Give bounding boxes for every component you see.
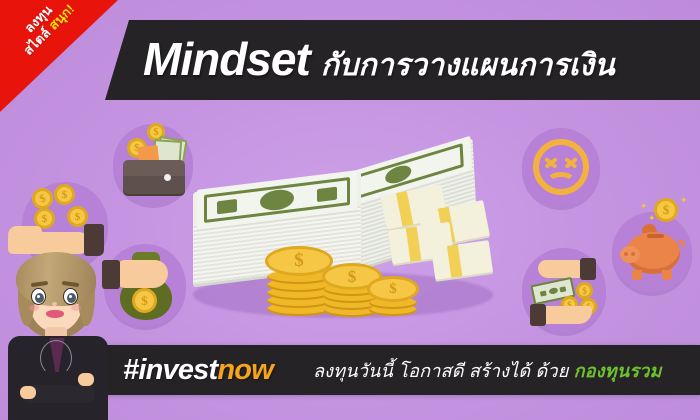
money-bundle — [431, 240, 493, 280]
blush-left — [29, 305, 39, 311]
wallet-flap — [123, 160, 185, 176]
grabbing-fist — [116, 260, 168, 288]
eye-left — [31, 288, 46, 305]
title-row: Mindset กับการวางแผนการเงิน — [143, 32, 615, 89]
pig-snout — [620, 246, 640, 263]
exchange-coin: $ — [576, 282, 593, 299]
hashtag-investnow: #investnow — [123, 354, 273, 387]
pig-tail — [676, 240, 685, 249]
corner-promo-ribbon: ลงทุน สไตล์ สนุก! — [0, 0, 118, 112]
blush-right — [71, 305, 81, 311]
bill-square-left — [540, 290, 547, 296]
pig-leg — [632, 270, 642, 280]
eye-right-x — [564, 155, 578, 169]
frown-mouth — [546, 172, 576, 192]
footer-tagline-highlight: กองทุนรวม — [574, 361, 662, 381]
bill-square-left — [217, 199, 237, 214]
eye-left-x — [544, 155, 558, 169]
investment-promo-banner: $ $ $ $ $ $ $ $ $ — [0, 0, 700, 420]
sleeve-cuff — [580, 258, 596, 280]
pupil-right — [67, 293, 76, 303]
hashtag-accent: now — [217, 354, 273, 386]
bill-oval — [548, 287, 558, 295]
necklace — [40, 340, 72, 376]
footer-tagline: ลงทุนวันนี้ โอกาสดี สร้างได้ ด้วย กองทุน… — [313, 356, 662, 385]
pupil-left — [35, 293, 44, 303]
falling-coin: $ — [54, 184, 75, 205]
bundle-band — [406, 226, 422, 261]
page-title-en: Mindset — [143, 32, 310, 86]
header-title-bar: Mindset กับการวางแผนการเงิน — [105, 20, 700, 100]
hair-front — [16, 252, 96, 306]
hand-left — [20, 386, 36, 399]
pig-nostril — [631, 252, 635, 256]
bill-square-right — [317, 187, 337, 202]
sparkle-icon: ✦ — [680, 196, 688, 205]
pig-coin-slot — [647, 234, 664, 238]
pig-leg — [662, 270, 672, 280]
eye-right — [63, 288, 78, 305]
bill-square-right — [559, 286, 566, 292]
page-title-th: กับการวางแผนการเงิน — [321, 42, 615, 89]
bundle-band — [447, 244, 462, 277]
footer-cta-bar: #investnow ลงทุนวันนี้ โอกาสดี สร้างได้ … — [95, 345, 700, 395]
hand-right — [78, 373, 94, 386]
hand-money-bag-icon: $ — [104, 244, 186, 326]
businesswoman-avatar — [0, 252, 116, 420]
hashtag-main: invest — [138, 354, 217, 386]
lips — [46, 310, 64, 318]
wallet-clasp — [164, 174, 171, 181]
sad-face-icon — [522, 128, 600, 206]
piggy-bank-icon: $ ✦ ✦ ✦ — [612, 212, 692, 292]
sleeve-cuff — [530, 304, 546, 326]
pig-nostril — [624, 252, 628, 256]
money-exchange-icon: $ $ $ — [522, 248, 606, 332]
footer-tagline-prefix: ลงทุนวันนี้ โอกาสดี สร้างได้ ด้วย — [313, 361, 574, 381]
bag-coin: $ — [132, 288, 157, 313]
nose — [52, 302, 57, 306]
piggy-coin: $ — [654, 198, 678, 222]
money-illustration: $ $ $ — [185, 160, 495, 335]
bundle-band — [396, 191, 413, 226]
coin-face: $ — [367, 276, 419, 302]
palm-fingers — [8, 226, 42, 244]
wallet-with-money-icon: $ $ — [113, 124, 193, 204]
sparkle-icon: ✦ — [648, 214, 656, 223]
ribbon-triangle — [0, 0, 118, 112]
coin-single: $ — [367, 276, 419, 326]
sparkle-icon: ✦ — [640, 202, 648, 211]
hashtag-symbol: # — [123, 354, 138, 386]
lower-hand — [538, 306, 592, 324]
